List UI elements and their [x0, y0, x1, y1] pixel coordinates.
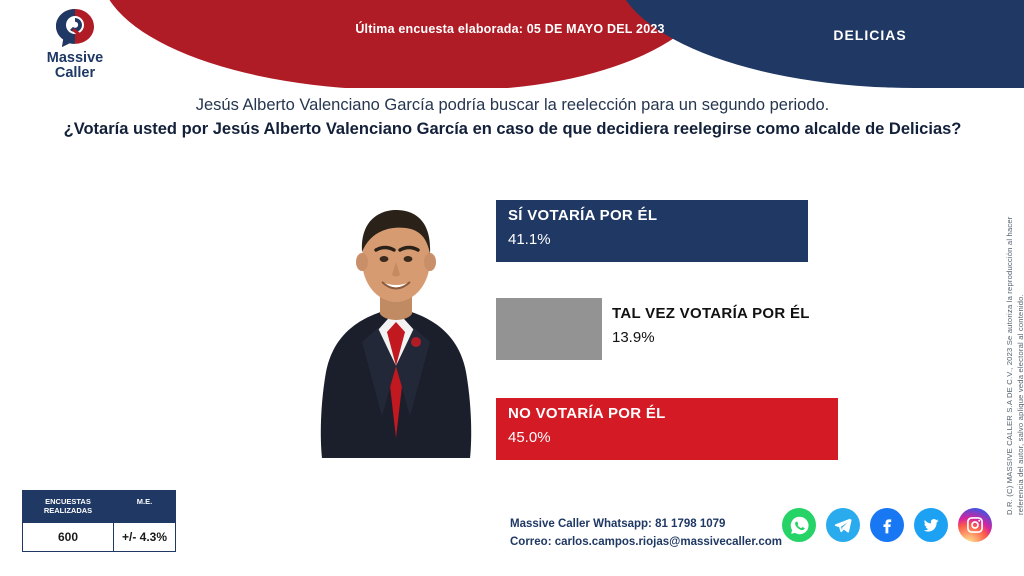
brand-logo: Massive Caller: [20, 6, 130, 84]
bar-no-votaria: NO VOTARÍA POR ÉL 45.0%: [496, 398, 838, 460]
bar-value-si: 41.1%: [508, 231, 551, 248]
table-value-encuestas: 600: [23, 523, 113, 551]
bar-si-votaria: SÍ VOTARÍA POR ÉL 41.1%: [496, 200, 808, 262]
bar-value-tal-vez: 13.9%: [612, 329, 810, 346]
table-value-me: +/- 4.3%: [113, 523, 175, 551]
bar-tal-vez-votaria: [496, 298, 602, 360]
candidate-portrait: [296, 190, 496, 480]
table-header-encuestas: ENCUESTAS REALIZADAS: [23, 491, 113, 522]
question-line-1: Jesús Alberto Valenciano García podría b…: [60, 96, 965, 115]
table-value-row: 600 +/- 4.3%: [23, 522, 175, 551]
bar-label-tal-vez: TAL VEZ VOTARÍA POR ÉL: [612, 305, 810, 322]
sample-size-table: ENCUESTAS REALIZADAS M.E. 600 +/- 4.3%: [22, 490, 176, 552]
social-icons: [782, 508, 992, 542]
logo-line-1: Massive: [20, 51, 130, 66]
table-header-me: M.E.: [113, 491, 175, 522]
bar-label-si: SÍ VOTARÍA POR ÉL: [508, 207, 657, 224]
bar-value-no: 45.0%: [508, 429, 551, 446]
survey-date-label: Última encuesta elaborada: 05 DE MAYO DE…: [300, 22, 720, 36]
bar-outside-label-tal-vez: TAL VEZ VOTARÍA POR ÉL 13.9%: [612, 305, 810, 346]
region-label: DELICIAS: [760, 27, 980, 43]
facebook-icon[interactable]: [870, 508, 904, 542]
table-header-row: ENCUESTAS REALIZADAS M.E.: [23, 491, 175, 522]
question-line-2: ¿Votaría usted por Jesús Alberto Valenci…: [60, 119, 965, 140]
instagram-icon[interactable]: [958, 508, 992, 542]
bar-label-no: NO VOTARÍA POR ÉL: [508, 405, 666, 422]
whatsapp-icon[interactable]: [782, 508, 816, 542]
footer-email-line: Correo: carlos.campos.riojas@massivecall…: [510, 534, 782, 552]
question-block: Jesús Alberto Valenciano García podría b…: [60, 96, 965, 140]
legal-vertical-text: D.R. (C) MASSIVE CALLER S.A DE C.V., 202…: [1004, 185, 1020, 515]
twitter-icon[interactable]: [914, 508, 948, 542]
telegram-icon[interactable]: [826, 508, 860, 542]
footer-whatsapp-line: Massive Caller Whatsapp: 81 1798 1079: [510, 516, 782, 534]
top-banner: Última encuesta elaborada: 05 DE MAYO DE…: [0, 0, 1024, 88]
footer-contact: Massive Caller Whatsapp: 81 1798 1079 Co…: [510, 516, 782, 552]
massive-caller-logo-icon: [53, 6, 97, 50]
logo-line-2: Caller: [20, 66, 130, 81]
